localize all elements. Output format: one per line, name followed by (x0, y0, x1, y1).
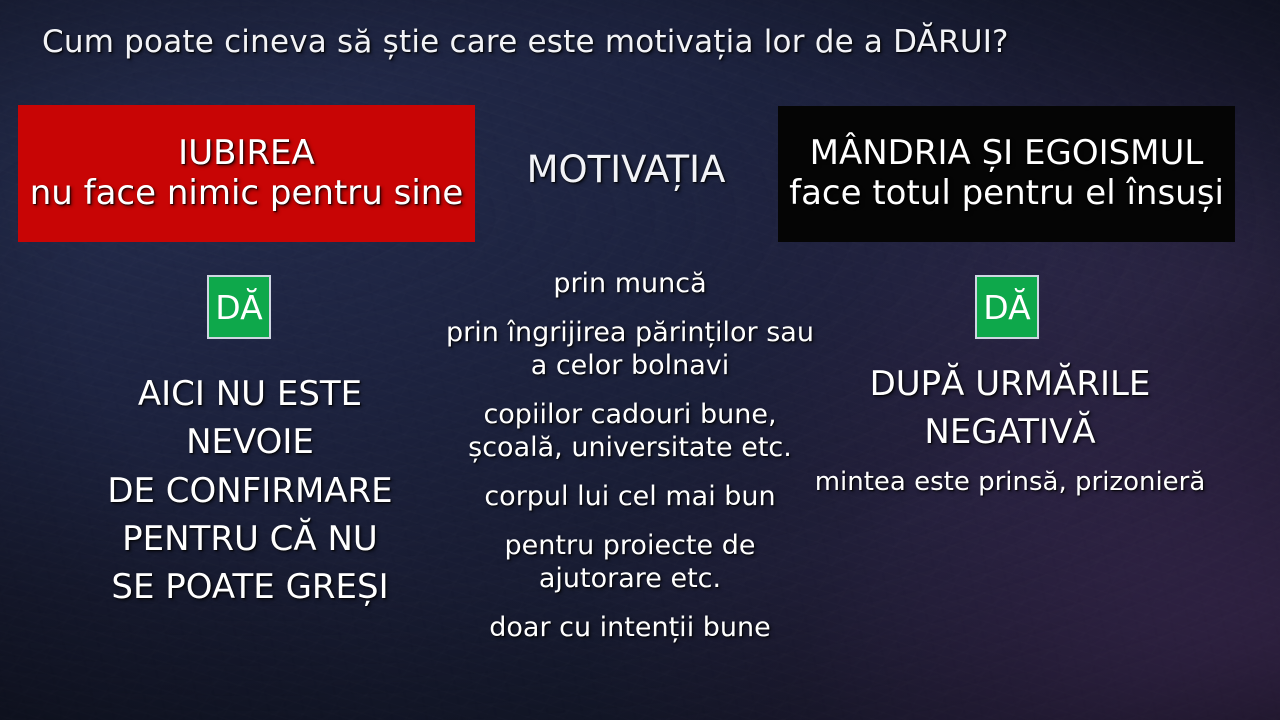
left-column-line: DE CONFIRMARE (40, 467, 460, 515)
list-item-line: ajutorare etc. (420, 563, 840, 596)
left-da-badge: DĂ (207, 275, 271, 339)
right-column-line: DUPĂ URMĂRILE (800, 360, 1220, 408)
slide-canvas: Cum poate cineva să știe care este motiv… (0, 0, 1280, 720)
list-item: prin muncă (420, 268, 840, 301)
page-title: Cum poate cineva să știe care este motiv… (42, 24, 1009, 60)
list-item-line: prin muncă (420, 268, 840, 301)
list-item: corpul lui cel mai bun (420, 481, 840, 514)
list-item-line: corpul lui cel mai bun (420, 481, 840, 514)
left-header-line-2: nu face nimic pentru sine (30, 174, 464, 214)
list-item: prin îngrijirea părinților sau a celor b… (420, 317, 840, 383)
left-header-line-1: IUBIREA (178, 134, 315, 174)
list-item-line: copiilor cadouri bune, (420, 399, 840, 432)
list-item-line: doar cu intenții bune (420, 612, 840, 645)
list-item-line: pentru proiecte de (420, 530, 840, 563)
right-column-line: NEGATIVĂ (800, 408, 1220, 456)
right-da-badge: DĂ (975, 275, 1039, 339)
list-item-line: a celor bolnavi (420, 350, 840, 383)
left-column-text: AICI NU ESTE NEVOIE DE CONFIRMARE PENTRU… (40, 370, 460, 611)
center-column-list: prin muncă prin îngrijirea părinților sa… (420, 268, 840, 644)
right-column-text: DUPĂ URMĂRILE NEGATIVĂ mintea este prins… (800, 360, 1220, 499)
center-heading: MOTIVAȚIA (443, 148, 809, 191)
list-item: copiilor cadouri bune, școală, universit… (420, 399, 840, 465)
left-column-line: NEVOIE (40, 418, 460, 466)
left-header-box: IUBIREA nu face nimic pentru sine (18, 105, 475, 242)
list-item-line: prin îngrijirea părinților sau (420, 317, 840, 350)
right-column-subtitle: mintea este prinsă, prizonieră (800, 466, 1220, 500)
list-item: pentru proiecte de ajutorare etc. (420, 530, 840, 596)
left-column-line: AICI NU ESTE (40, 370, 460, 418)
right-header-line-1: MÂNDRIA ȘI EGOISMUL (810, 134, 1204, 174)
left-column-line: SE POATE GREȘI (40, 563, 460, 611)
list-item-line: școală, universitate etc. (420, 432, 840, 465)
left-column-line: PENTRU CĂ NU (40, 515, 460, 563)
list-item: doar cu intenții bune (420, 612, 840, 645)
right-header-line-2: face totul pentru el însuși (789, 174, 1224, 214)
right-header-box: MÂNDRIA ȘI EGOISMUL face totul pentru el… (778, 106, 1235, 242)
